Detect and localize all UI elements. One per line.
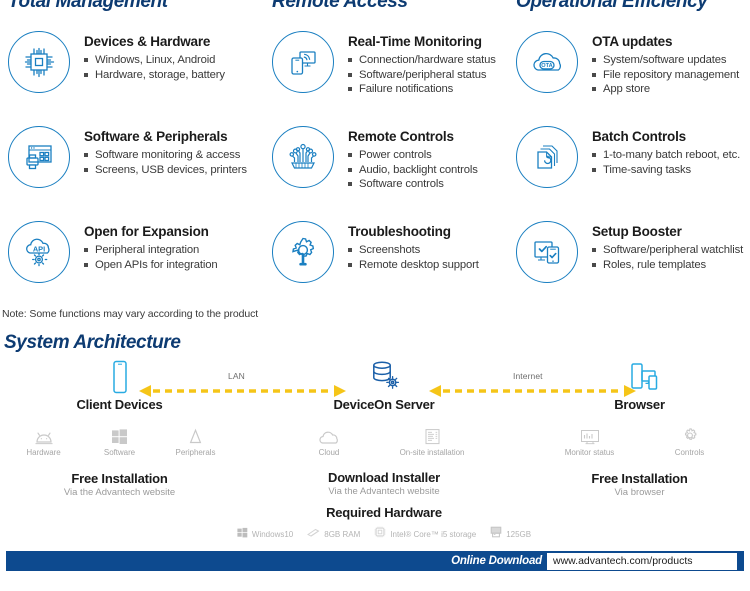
bullet-item: 1-to-many batch reboot, etc.: [592, 148, 740, 163]
feature-troubleshooting: Troubleshooting Screenshots Remote deskt…: [250, 218, 500, 313]
bullet-item: Software/peripheral watchlist: [592, 243, 743, 258]
gear-wrench-icon: [272, 221, 334, 283]
arch-block-title: Free Installation: [529, 471, 750, 486]
cloud-icon: [281, 423, 377, 445]
feature-open-for-expansion: API Open for Expansion Peripheral integr…: [0, 218, 250, 313]
subicon-label: Hardware: [6, 448, 82, 457]
bullet-item: Power controls: [348, 148, 478, 163]
peripherals-icon: [158, 423, 234, 445]
bullet-item: Open APIs for integration: [84, 258, 217, 273]
feature-bullets: Power controls Audio, backlight controls…: [348, 148, 478, 192]
online-download-label: Online Download: [451, 555, 542, 567]
requirement-label: Intel® Core™ i5 storage: [390, 530, 476, 539]
required-hardware-title: Required Hardware: [240, 505, 528, 520]
column-header-total-management: Total Management: [0, 0, 250, 13]
ram-icon: [307, 525, 320, 543]
bullet-item: Software monitoring & access: [84, 148, 247, 163]
bullet-item: Windows, Linux, Android: [84, 53, 225, 68]
bullet-item: Time-saving tasks: [592, 163, 740, 178]
feature-title: Setup Booster: [592, 224, 743, 239]
column-header-remote-access: Remote Access: [250, 0, 500, 13]
arch-node-name: DeviceOn Server: [240, 397, 528, 412]
stacked-pages-refresh-icon: [516, 126, 578, 188]
feature-title: Open for Expansion: [84, 224, 217, 239]
requirement-label: 125GB: [506, 530, 531, 539]
feature-column-operational-efficiency: OTA OTA updates System/software updates …: [500, 28, 750, 313]
bullet-item: Software/peripheral status: [348, 68, 496, 83]
bullet-item: Roles, rule templates: [592, 258, 743, 273]
feature-title: Remote Controls: [348, 129, 478, 144]
cpu-icon: [374, 525, 386, 543]
arch-block-subtitle: Via browser: [529, 487, 750, 498]
subicon-peripherals: Peripherals: [158, 423, 234, 457]
feature-bullets: Connection/hardware status Software/peri…: [348, 53, 496, 97]
feature-bullets: Software monitoring & access Screens, US…: [84, 148, 247, 177]
requirement-label: Windows10: [252, 530, 293, 539]
feature-text: Setup Booster Software/peripheral watchl…: [578, 218, 743, 272]
feature-title: Software & Peripherals: [84, 129, 247, 144]
feature-bullets: Screenshots Remote desktop support: [348, 243, 479, 272]
feature-title: Real-Time Monitoring: [348, 34, 496, 49]
requirement-windows10: Windows10: [237, 525, 293, 543]
controls-gear-icon: [640, 423, 740, 445]
subicon-onsite-installation: On-site installation: [377, 423, 487, 457]
bullet-item: Hardware, storage, battery: [84, 68, 225, 83]
feature-bullets: System/software updates File repository …: [592, 53, 739, 97]
feature-bullets: Windows, Linux, Android Hardware, storag…: [84, 53, 225, 82]
multi-device-browser-icon: [529, 358, 750, 394]
subicon-label: Cloud: [281, 448, 377, 457]
feature-bullets: Software/peripheral watchlist Roles, rul…: [592, 243, 743, 272]
subicon-label: Monitor status: [540, 448, 640, 457]
subicon-controls: Controls: [640, 423, 740, 457]
feature-title: Troubleshooting: [348, 224, 479, 239]
column-header-operational-efficiency: Operational Efficiency: [500, 0, 750, 13]
required-hardware-list: Windows10 8GB RAM: [240, 525, 528, 543]
feature-remote-controls: Remote Controls Power controls Audio, ba…: [250, 123, 500, 218]
arch-node-name: Client Devices: [0, 397, 239, 412]
system-architecture-diagram: LAN Internet Client Devices: [0, 358, 750, 538]
bullet-item: Connection/hardware status: [348, 53, 496, 68]
arch-node-name: Browser: [529, 397, 750, 412]
storage-icon: [490, 525, 502, 543]
api-cloud-gear-icon: API: [8, 221, 70, 283]
bullet-item: Audio, backlight controls: [348, 163, 478, 178]
bullet-item: Peripheral integration: [84, 243, 217, 258]
feature-text: Software & Peripherals Software monitori…: [70, 123, 247, 177]
bullet-item: Remote desktop support: [348, 258, 479, 273]
feature-text: Remote Controls Power controls Audio, ba…: [334, 123, 478, 192]
arch-node-client-devices: Client Devices Hardware: [0, 358, 239, 498]
feature-text: Open for Expansion Peripheral integratio…: [70, 218, 217, 272]
subicon-cloud: Cloud: [281, 423, 377, 457]
feature-column-remote-access: Real-Time Monitoring Connection/hardware…: [250, 28, 500, 313]
windows-icon: [237, 525, 248, 543]
bullet-item: File repository management: [592, 68, 739, 83]
online-download-url[interactable]: www.advantech.com/products: [547, 553, 737, 570]
footer-bar: Online Download www.advantech.com/produc…: [6, 551, 744, 571]
subicon-monitor-status: Monitor status: [540, 423, 640, 457]
feature-text: Batch Controls 1-to-many batch reboot, e…: [578, 123, 740, 177]
arch-node-subicons: Monitor status Controls: [529, 423, 750, 457]
feature-ota-updates: OTA OTA updates System/software updates …: [500, 28, 750, 123]
arch-node-subicons: Hardware Software: [0, 423, 239, 457]
subicon-label: Controls: [640, 448, 740, 457]
feature-text: Troubleshooting Screenshots Remote deskt…: [334, 218, 479, 272]
circuit-control-icon: [272, 126, 334, 188]
feature-title: Devices & Hardware: [84, 34, 225, 49]
feature-title: OTA updates: [592, 34, 739, 49]
onsite-server-icon: [377, 423, 487, 445]
ota-cloud-icon: OTA: [516, 31, 578, 93]
bullet-item: Screens, USB devices, printers: [84, 163, 247, 178]
bullet-item: Failure notifications: [348, 82, 496, 97]
feature-software-peripherals: Software & Peripherals Software monitori…: [0, 123, 250, 218]
arch-block-title: Download Installer: [240, 470, 528, 485]
android-icon: [6, 423, 82, 445]
requirement-storage: 125GB: [490, 525, 531, 543]
checklist-devices-icon: [516, 221, 578, 283]
subicon-label: On-site installation: [377, 448, 487, 457]
requirement-ram: 8GB RAM: [307, 525, 360, 543]
bullet-item: App store: [592, 82, 739, 97]
arch-node-subicons: Cloud On-site installation: [240, 423, 528, 457]
feature-setup-booster: Setup Booster Software/peripheral watchl…: [500, 218, 750, 313]
arch-block-title: Free Installation: [0, 471, 239, 486]
arch-node-deviceon-server: DeviceOn Server Cloud: [240, 358, 528, 543]
svg-text:OTA: OTA: [541, 63, 552, 69]
requirement-label: 8GB RAM: [324, 530, 360, 539]
feature-real-time-monitoring: Real-Time Monitoring Connection/hardware…: [250, 28, 500, 123]
subicon-software: Software: [82, 423, 158, 457]
svg-text:API: API: [33, 245, 45, 254]
monitor-status-icon: [540, 423, 640, 445]
bullet-item: System/software updates: [592, 53, 739, 68]
subicon-label: Software: [82, 448, 158, 457]
feature-text: OTA updates System/software updates File…: [578, 28, 739, 97]
product-datasheet-page: Total Management Remote Access Operation…: [0, 0, 750, 591]
feature-title: Batch Controls: [592, 129, 740, 144]
monitor-phone-signal-icon: [272, 31, 334, 93]
system-architecture-title: System Architecture: [4, 332, 181, 354]
windows-icon: [82, 423, 158, 445]
arch-block-subtitle: Via the Advantech website: [240, 486, 528, 497]
column-headers: Total Management Remote Access Operation…: [0, 0, 750, 13]
arch-node-browser: Browser Monitor status: [529, 358, 750, 498]
subicon-hardware: Hardware: [6, 423, 82, 457]
feature-bullets: Peripheral integration Open APIs for int…: [84, 243, 217, 272]
bullet-item: Screenshots: [348, 243, 479, 258]
feature-bullets: 1-to-many batch reboot, etc. Time-saving…: [592, 148, 740, 177]
feature-text: Devices & Hardware Windows, Linux, Andro…: [70, 28, 225, 82]
feature-text: Real-Time Monitoring Connection/hardware…: [334, 28, 496, 97]
server-database-gear-icon: [240, 358, 528, 394]
feature-devices-hardware: Devices & Hardware Windows, Linux, Andro…: [0, 28, 250, 123]
arch-block-subtitle: Via the Advantech website: [0, 487, 239, 498]
cpu-chip-icon: [8, 31, 70, 93]
feature-column-total-management: Devices & Hardware Windows, Linux, Andro…: [0, 28, 250, 313]
feature-batch-controls: Batch Controls 1-to-many batch reboot, e…: [500, 123, 750, 218]
requirement-cpu: Intel® Core™ i5 storage: [374, 525, 476, 543]
feature-grid: Devices & Hardware Windows, Linux, Andro…: [0, 28, 750, 313]
product-variation-note: Note: Some functions may vary according …: [2, 308, 258, 320]
software-window-printer-icon: [8, 126, 70, 188]
mobile-device-icon: [0, 358, 239, 394]
bullet-item: Software controls: [348, 177, 478, 192]
subicon-label: Peripherals: [158, 448, 234, 457]
